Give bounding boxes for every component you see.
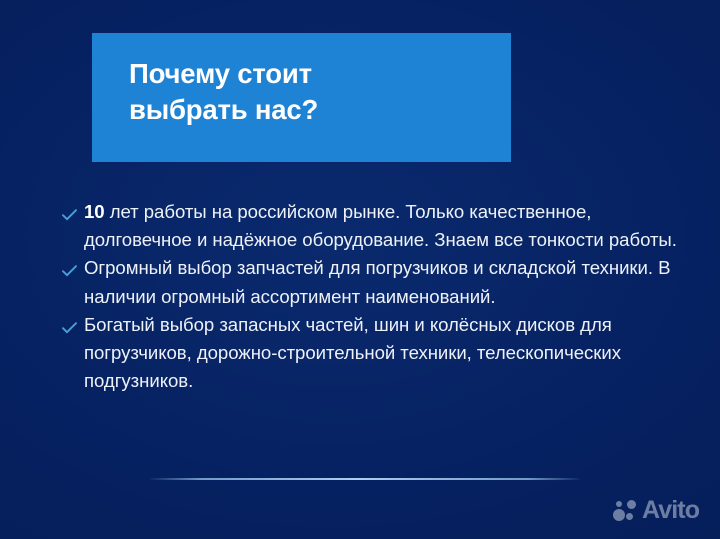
title-panel: Почему стоит выбрать нас? xyxy=(92,33,511,162)
avito-dots-icon xyxy=(613,499,639,522)
check-icon xyxy=(62,202,84,221)
list-item-lead: 10 xyxy=(84,201,105,222)
list-item: Богатый выбор запасных частей, шин и кол… xyxy=(62,311,682,396)
list-item-body: Огромный выбор запчастей для погрузчиков… xyxy=(84,257,670,306)
check-icon xyxy=(62,315,84,334)
slide-canvas: Почему стоит выбрать нас? 10 лет работы … xyxy=(0,0,720,539)
list-item-body: лет работы на российском рынке. Только к… xyxy=(84,201,677,250)
avito-wordmark: Avito xyxy=(642,499,699,522)
page-title: Почему стоит выбрать нас? xyxy=(129,56,497,128)
divider xyxy=(150,478,580,480)
list-item: Огромный выбор запчастей для погрузчиков… xyxy=(62,254,682,310)
list-item-text: Богатый выбор запасных частей, шин и кол… xyxy=(84,311,682,396)
avito-watermark: Avito xyxy=(613,499,699,522)
list-item-text: Огромный выбор запчастей для погрузчиков… xyxy=(84,254,682,310)
check-icon xyxy=(62,258,84,277)
list-item-text: 10 лет работы на российском рынке. Тольк… xyxy=(84,198,682,254)
benefits-list: 10 лет работы на российском рынке. Тольк… xyxy=(62,198,682,395)
list-item-body: Богатый выбор запасных частей, шин и кол… xyxy=(84,314,621,391)
list-item: 10 лет работы на российском рынке. Тольк… xyxy=(62,198,682,254)
